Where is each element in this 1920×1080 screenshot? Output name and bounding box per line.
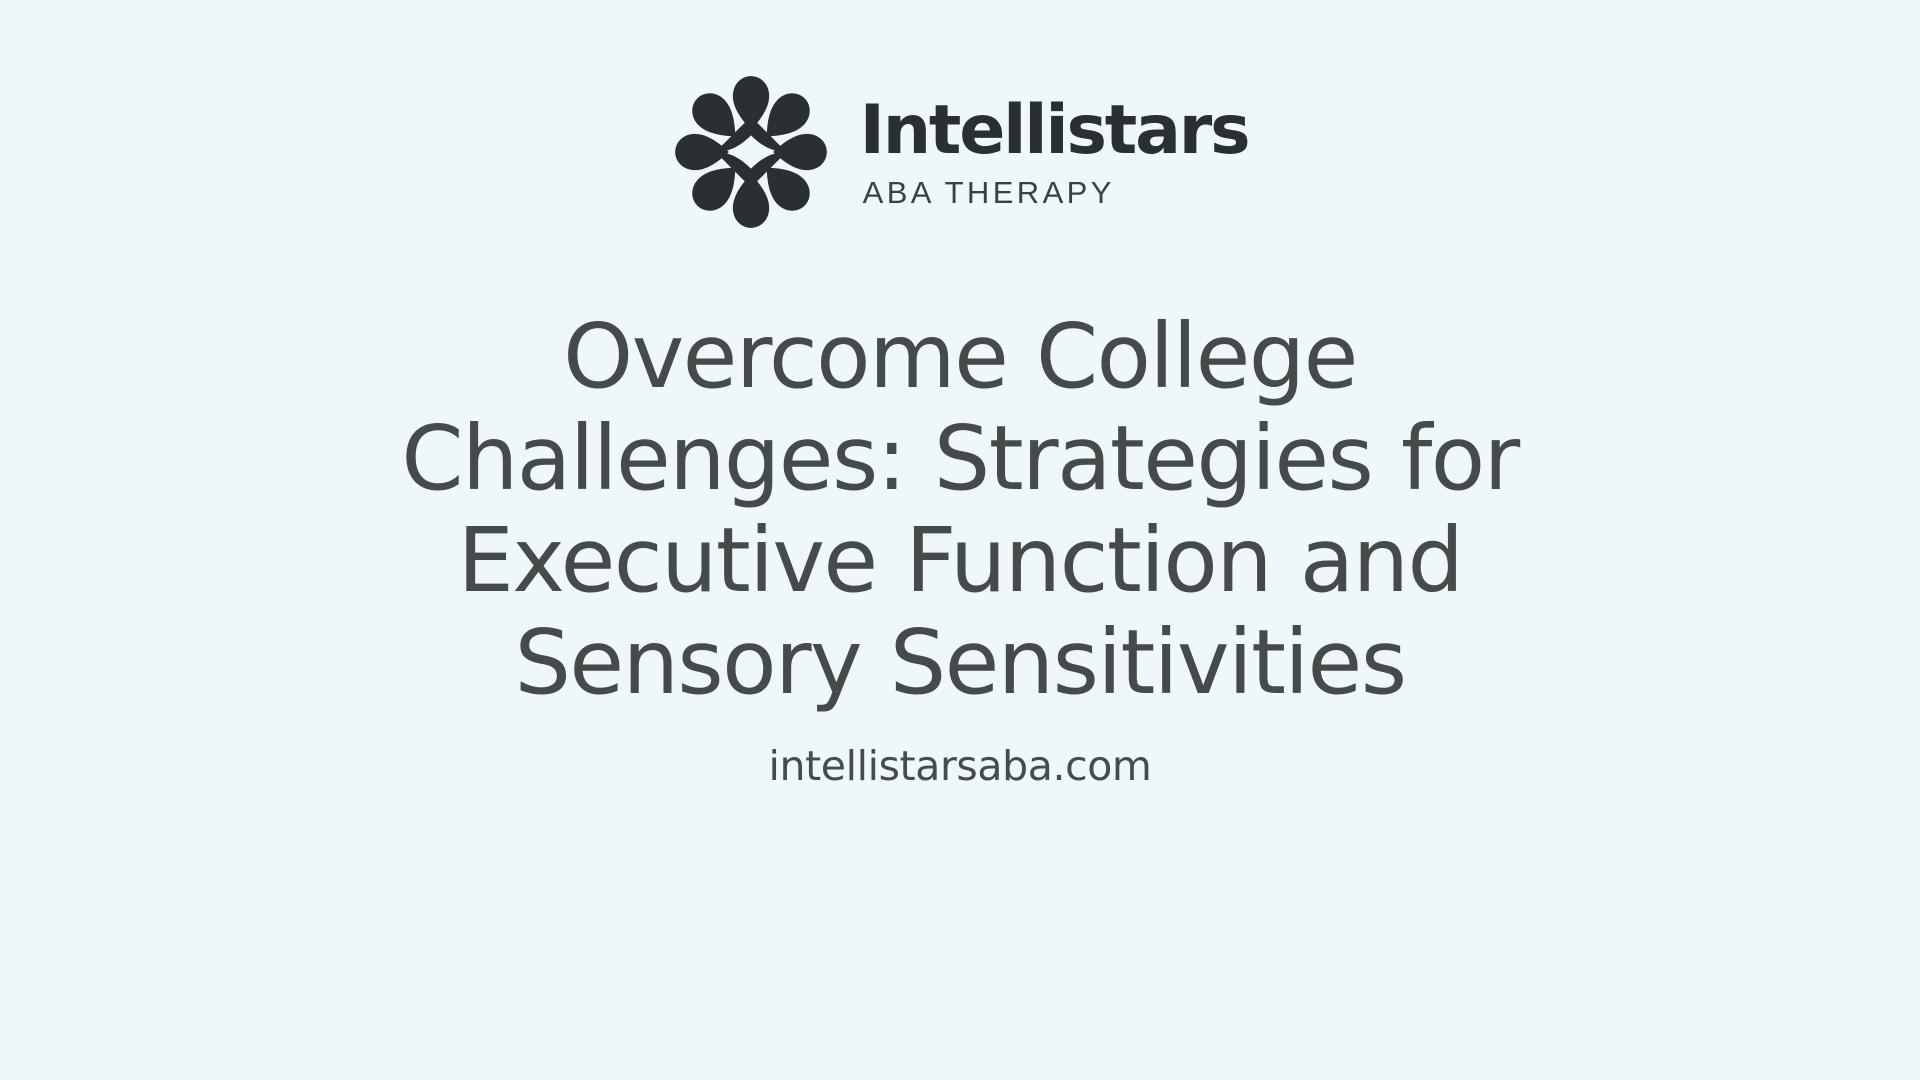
- logo-lockup[interactable]: Intellistars ABA THERAPY: [672, 72, 1249, 232]
- site-url: intellistarsaba.com: [0, 742, 1920, 790]
- page-title: Overcome College Challenges: Strategies …: [330, 306, 1590, 714]
- logo-wordmark: Intellistars: [860, 98, 1249, 165]
- logo-tagline: ABA THERAPY: [863, 176, 1115, 210]
- logo-text-block: Intellistars ABA THERAPY: [860, 94, 1249, 210]
- title-card: Intellistars ABA THERAPY Overcome Colleg…: [0, 0, 1920, 1080]
- intellistars-star-mark-icon: [672, 73, 830, 231]
